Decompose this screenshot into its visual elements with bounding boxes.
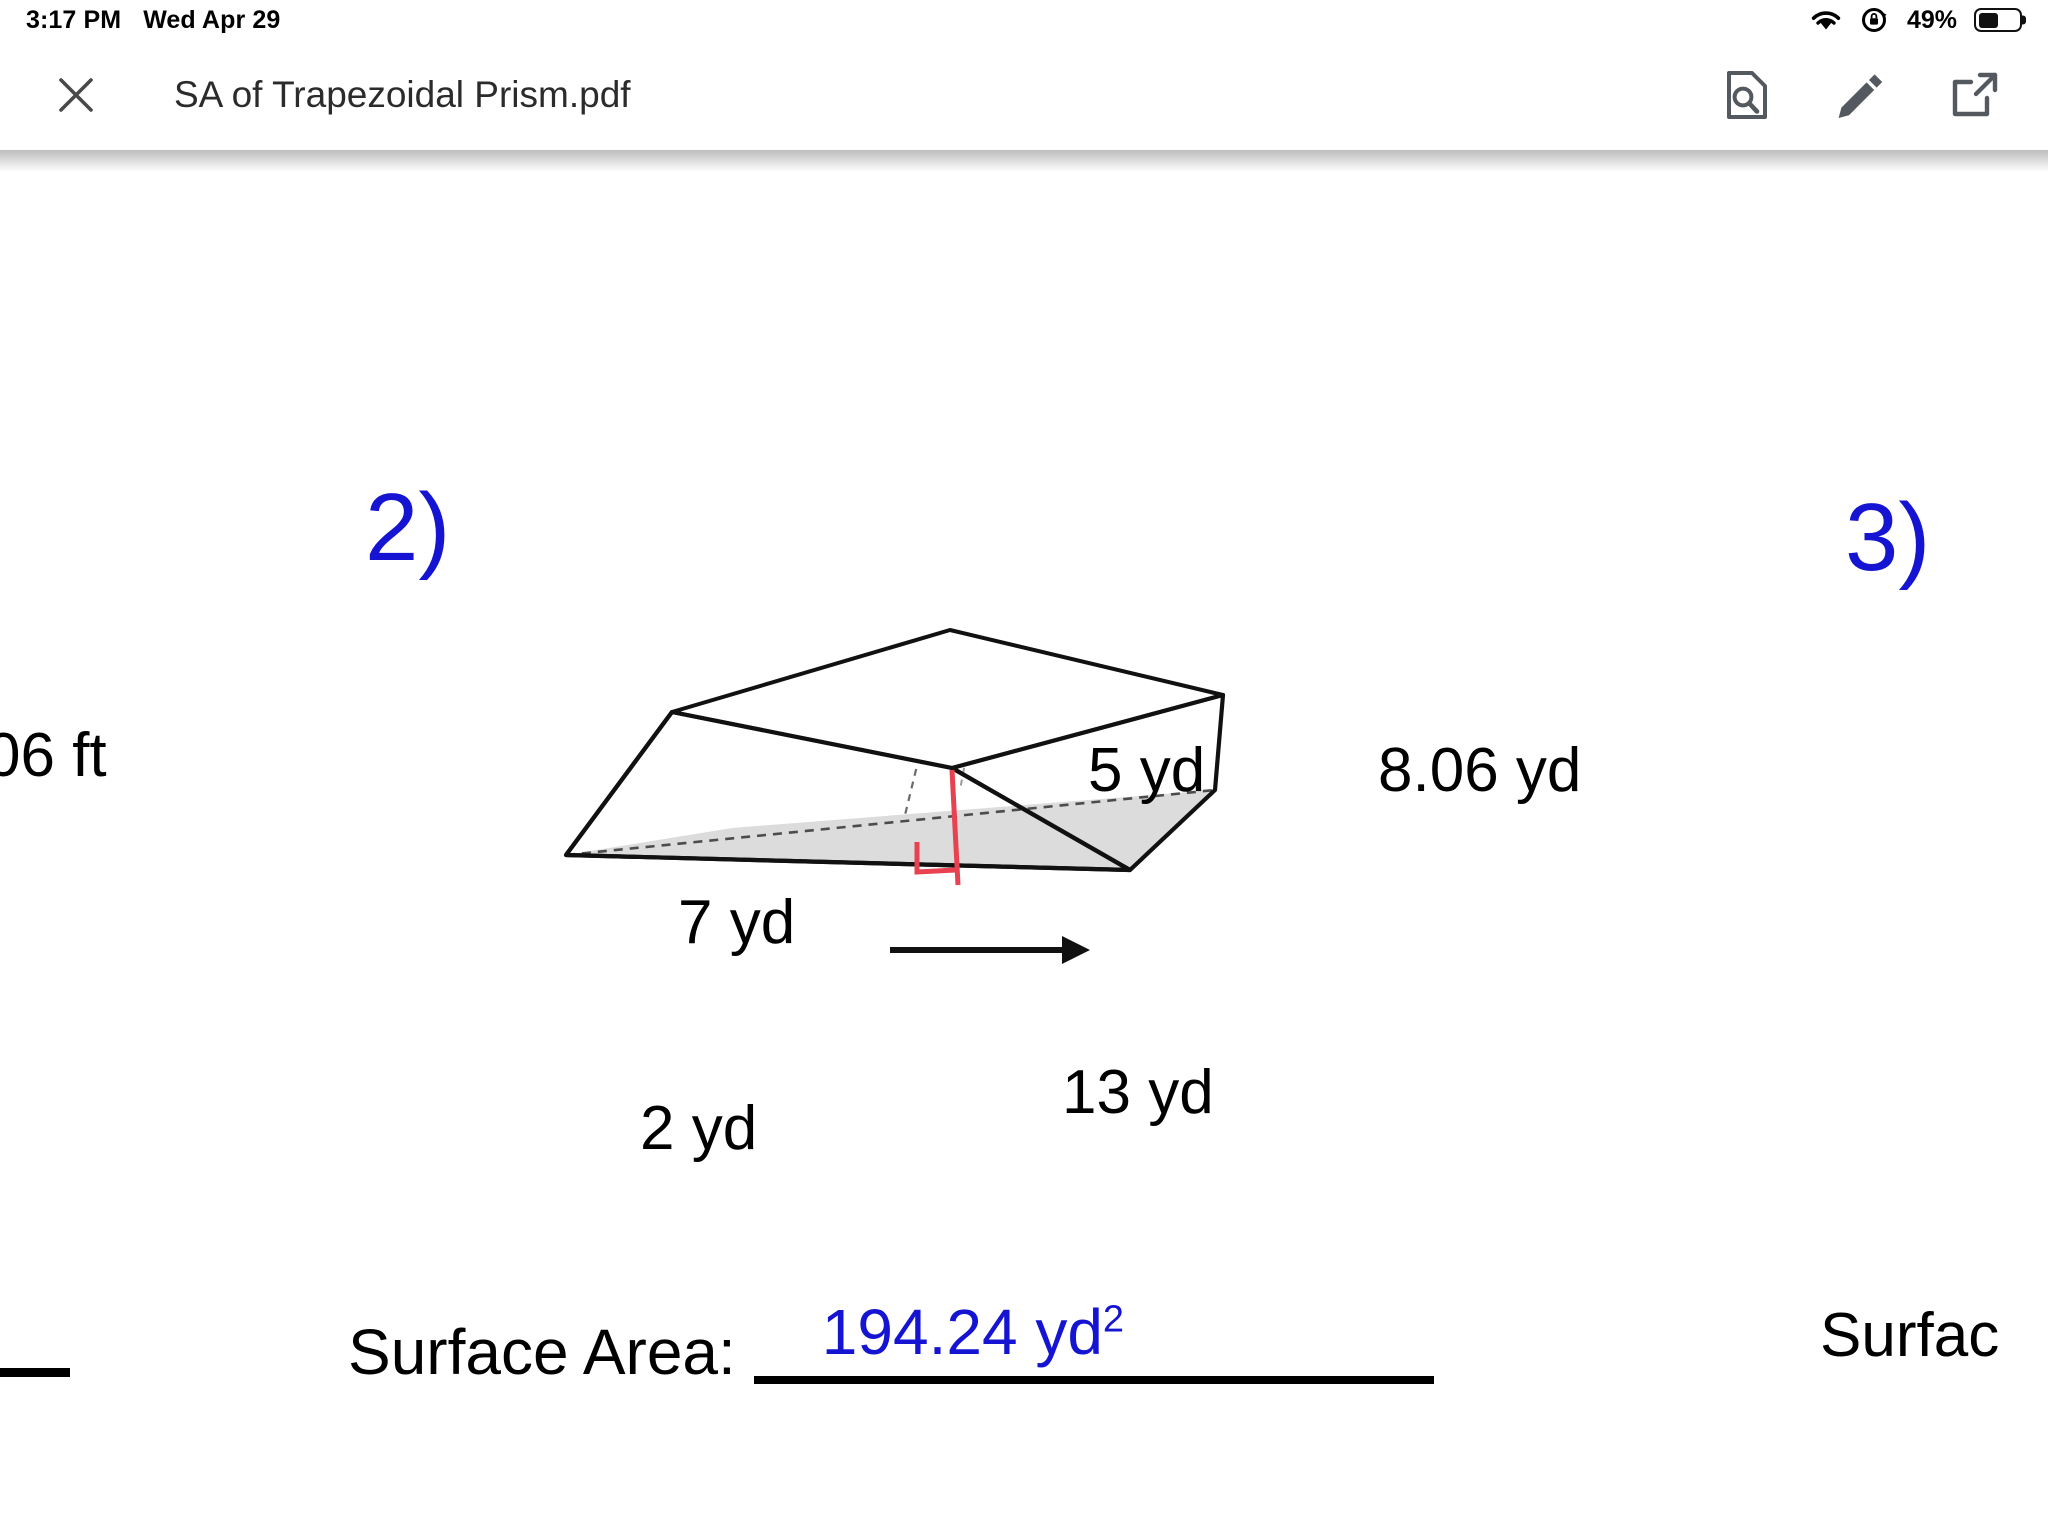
share-external-icon[interactable] [1946, 66, 2004, 124]
status-date: Wed Apr 29 [143, 8, 280, 33]
wifi-icon [1809, 7, 1843, 33]
left-end-edge [566, 712, 672, 855]
battery-icon [1974, 8, 2022, 32]
dimension-label-length: 2 yd [640, 1098, 757, 1160]
surface-area-answer-row: Surface Area: 194.24 yd2 [348, 1298, 1434, 1384]
right-neighbor-surface-area-fragment: Surfac [1820, 1305, 1999, 1367]
answer-exponent: 2 [1103, 1299, 1124, 1341]
dimension-label-bottom-edge: 13 yd [1062, 1062, 1214, 1124]
status-bar-right: 49% [1809, 5, 2022, 35]
battery-percentage: 49% [1907, 8, 1957, 33]
problem-number-3: 3) [1845, 490, 1930, 586]
problem-number-2: 2) [365, 480, 450, 576]
status-time: 3:17 PM [26, 8, 121, 33]
pdf-page[interactable]: 2) 3) 06 ft Surfac 5 yd [0, 150, 2048, 1536]
dimension-label-top-edge: 5 yd [1088, 740, 1205, 802]
surface-area-answer-blank[interactable]: 194.24 yd2 [754, 1298, 1434, 1384]
surface-area-label: Surface Area: [348, 1320, 736, 1384]
surface-area-answer-value: 194.24 yd2 [822, 1300, 1124, 1364]
dimension-label-depth: 7 yd [678, 892, 795, 954]
status-bar: 3:17 PM Wed Apr 29 49% [0, 0, 2048, 40]
answer-number: 194.24 yd [822, 1296, 1103, 1368]
document-title: SA of Trapezoidal Prism.pdf [174, 74, 631, 116]
battery-fill [1979, 13, 1998, 28]
status-bar-left: 3:17 PM Wed Apr 29 [26, 8, 280, 33]
dimension-label-slant-side: 8.06 yd [1378, 740, 1581, 802]
close-icon[interactable] [44, 63, 108, 127]
document-search-icon[interactable] [1718, 66, 1776, 124]
toolbar-actions [1718, 66, 2004, 124]
edit-pencil-icon[interactable] [1832, 66, 1890, 124]
left-neighbor-answer-line-fragment [0, 1368, 70, 1377]
trapezoidal-prism-figure [560, 620, 1280, 1120]
depth-dimension-arrow [890, 930, 1100, 970]
rotation-lock-icon [1860, 5, 1890, 35]
pdf-viewer-toolbar: SA of Trapezoidal Prism.pdf [0, 40, 2048, 150]
left-neighbor-dimension-fragment: 06 ft [0, 725, 107, 787]
